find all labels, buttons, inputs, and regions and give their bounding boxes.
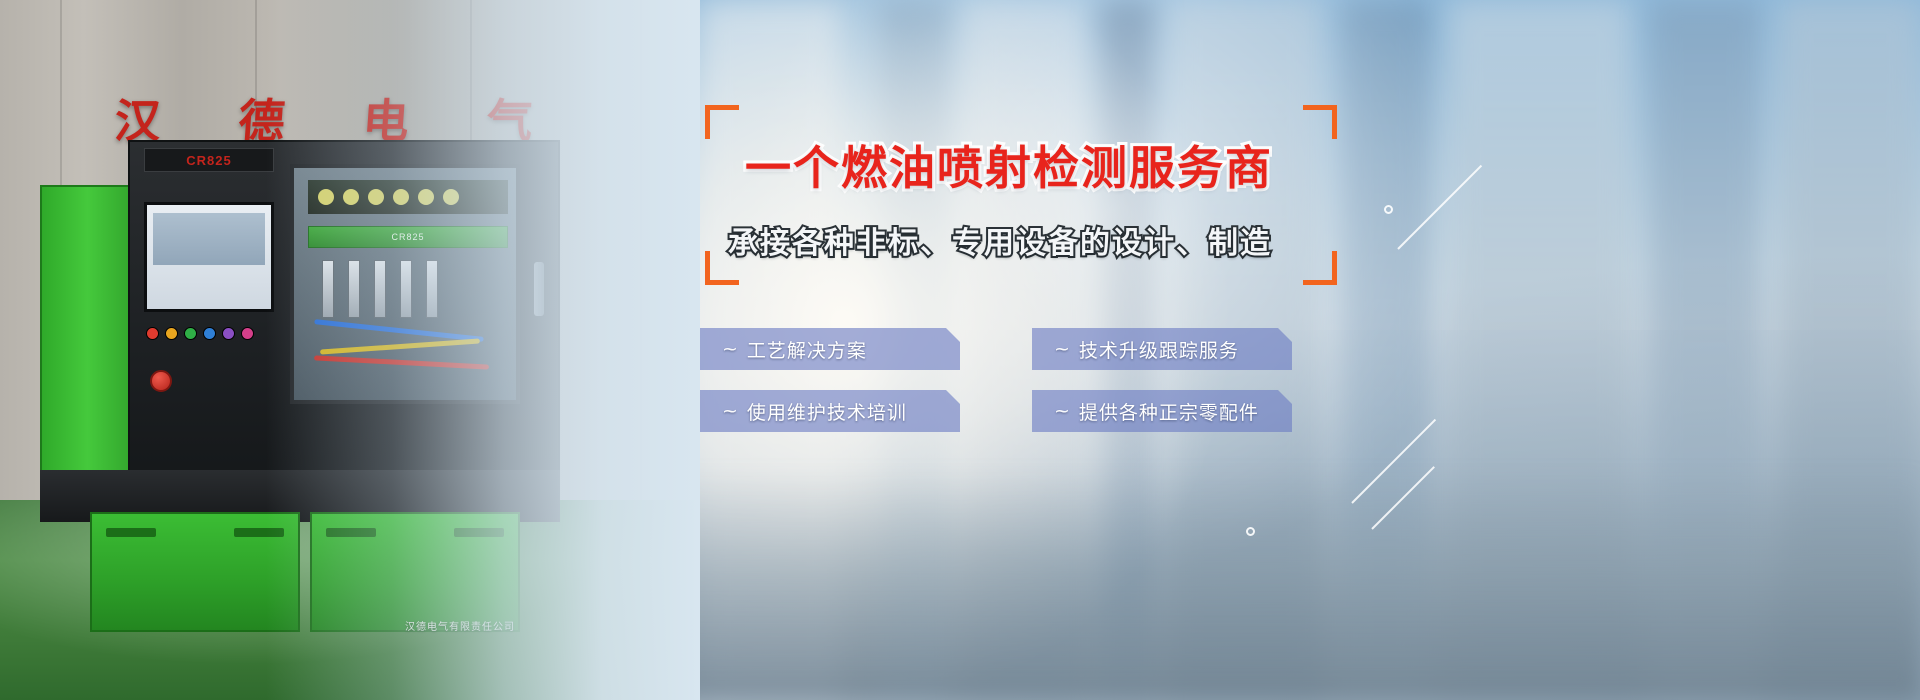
feature-tag-process-solution[interactable]: ~ 工艺解决方案	[700, 328, 960, 370]
feature-tag-list: ~ 工艺解决方案 ~ 技术升级跟踪服务 ~ 使用维护技术培训 ~ 提供各种正宗零…	[700, 328, 1292, 438]
feature-tag-label: 使用维护技术培训	[747, 398, 907, 425]
tag-tilde-icon: ~	[722, 400, 739, 422]
hero-banner: 汉 德 电 气 CR825	[0, 0, 1920, 700]
tag-tilde-icon: ~	[1054, 400, 1071, 422]
feature-tag-genuine-parts[interactable]: ~ 提供各种正宗零配件	[1032, 390, 1292, 432]
photo-fade-overlay	[0, 0, 700, 700]
decorative-circle	[1384, 205, 1393, 214]
tag-tilde-icon: ~	[722, 338, 739, 360]
banner-headline: 一个燃油喷射检测服务商	[745, 139, 1285, 197]
tag-tilde-icon: ~	[1054, 338, 1071, 360]
product-photo: 汉 德 电 气 CR825	[0, 0, 700, 700]
corner-bracket-top-left-icon	[705, 105, 739, 139]
feature-tag-label: 提供各种正宗零配件	[1079, 398, 1259, 425]
feature-tag-label: 技术升级跟踪服务	[1079, 336, 1239, 363]
banner-subtitle: 承接各种非标、专用设备的设计、制造	[728, 223, 1288, 265]
corner-bracket-top-right-icon	[1303, 105, 1337, 139]
feature-tag-maintenance-training[interactable]: ~ 使用维护技术培训	[700, 390, 960, 432]
feature-tag-tech-upgrade-service[interactable]: ~ 技术升级跟踪服务	[1032, 328, 1292, 370]
decorative-circle	[1246, 527, 1255, 536]
feature-tag-label: 工艺解决方案	[747, 336, 867, 363]
corner-bracket-bottom-right-icon	[1303, 251, 1337, 285]
